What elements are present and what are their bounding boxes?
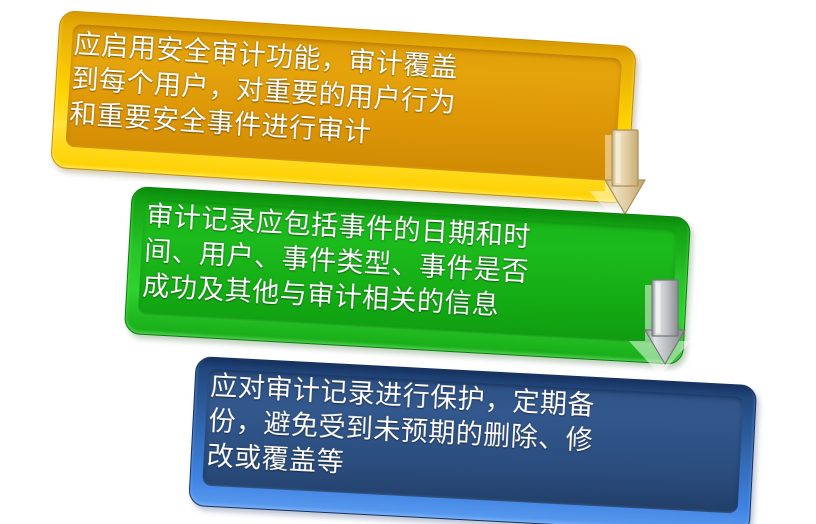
diagram-canvas: 应启用安全审计功能，审计覆盖 到每个用户，对重要的用户行为 和重要安全事件进行审… [0, 0, 816, 524]
step-box-shape: 应启用安全审计功能，审计覆盖 到每个用户，对重要的用户行为 和重要安全事件进行审… [50, 10, 637, 204]
step-box-shape: 审计记录应包括事件的日期和时 间、用户、事件类型、事件是否 成功及其他与审计相关… [124, 186, 691, 365]
process-step-2-green[interactable]: 审计记录应包括事件的日期和时 间、用户、事件类型、事件是否 成功及其他与审计相关… [124, 186, 691, 365]
down-arrow-icon-1 [588, 128, 660, 222]
step-box-shape: 应对审计记录进行保护，定期备 份，避免受到未预期的删除、修 改或覆盖等 [188, 356, 757, 524]
down-arrow-icon-2 [628, 278, 700, 372]
process-step-3-blue[interactable]: 应对审计记录进行保护，定期备 份，避免受到未预期的删除、修 改或覆盖等 [188, 356, 757, 524]
process-step-1-orange[interactable]: 应启用安全审计功能，审计覆盖 到每个用户，对重要的用户行为 和重要安全事件进行审… [50, 10, 637, 204]
